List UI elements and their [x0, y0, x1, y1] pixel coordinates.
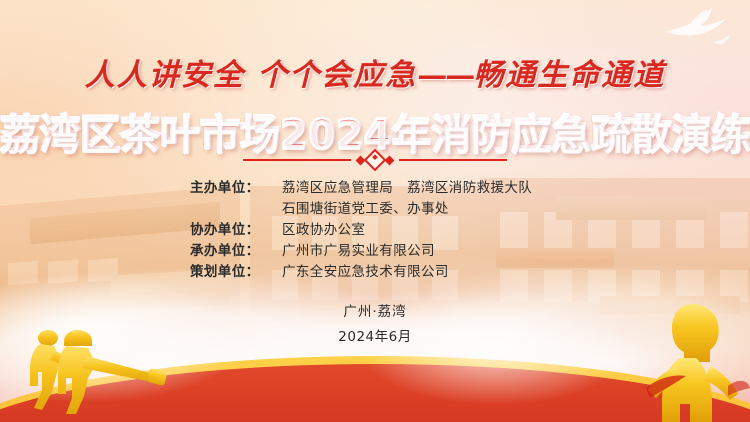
organizer-value: 石围塘街道党工委、办事处: [282, 197, 449, 217]
diamond-small-right-icon: [385, 155, 395, 165]
footer-date: 2024年6月: [0, 325, 750, 345]
organizer-value: 荔湾区应急管理局 荔湾区消防救援大队: [282, 176, 532, 196]
subtitle-part-1: 人人讲安全 个个会应急: [85, 58, 417, 93]
organizer-label: 协办单位：: [190, 218, 282, 238]
organizer-row: 承办单位： 广州市广易实业有限公司: [190, 239, 560, 259]
organizer-label: 承办单位：: [190, 239, 282, 259]
organizer-row: 主办单位： 石围塘街道党工委、办事处: [190, 197, 560, 217]
organizer-row: 主办单位： 荔湾区应急管理局 荔湾区消防救援大队: [190, 176, 560, 196]
diamond-large-icon: [364, 149, 387, 172]
poster-canvas: 人人讲安全 个个会应急——畅通生命通道 荔湾区茶叶市场2024年消防应急疏散演练…: [0, 0, 750, 422]
decorative-divider: [0, 152, 750, 168]
divider-ornament: [357, 152, 393, 168]
divider-rule-left: [243, 159, 351, 161]
organizer-list: 主办单位： 荔湾区应急管理局 荔湾区消防救援大队 主办单位： 石围塘街道党工委、…: [0, 176, 750, 281]
organizer-row: 策划单位： 广东全安应急技术有限公司: [190, 260, 560, 280]
organizer-label: 主办单位：: [190, 176, 282, 196]
poster-content: 人人讲安全 个个会应急——畅通生命通道 荔湾区茶叶市场2024年消防应急疏散演练…: [0, 0, 750, 422]
organizer-value: 区政协办公室: [282, 218, 365, 238]
organizer-value: 广东全安应急技术有限公司: [282, 260, 449, 280]
subtitle-part-2: 畅通生命通道: [473, 58, 665, 93]
footer-place: 广州·荔湾: [0, 300, 750, 320]
poster-footer: 广州·荔湾 2024年6月: [0, 300, 750, 345]
organizer-row: 协办单位： 区政协办公室: [190, 218, 560, 238]
organizer-value: 广州市广易实业有限公司: [282, 239, 435, 259]
divider-rule-right: [399, 159, 507, 161]
organizer-label: 策划单位：: [190, 260, 282, 280]
poster-subtitle: 人人讲安全 个个会应急——畅通生命通道: [0, 50, 750, 94]
subtitle-dash: ——: [417, 58, 473, 93]
